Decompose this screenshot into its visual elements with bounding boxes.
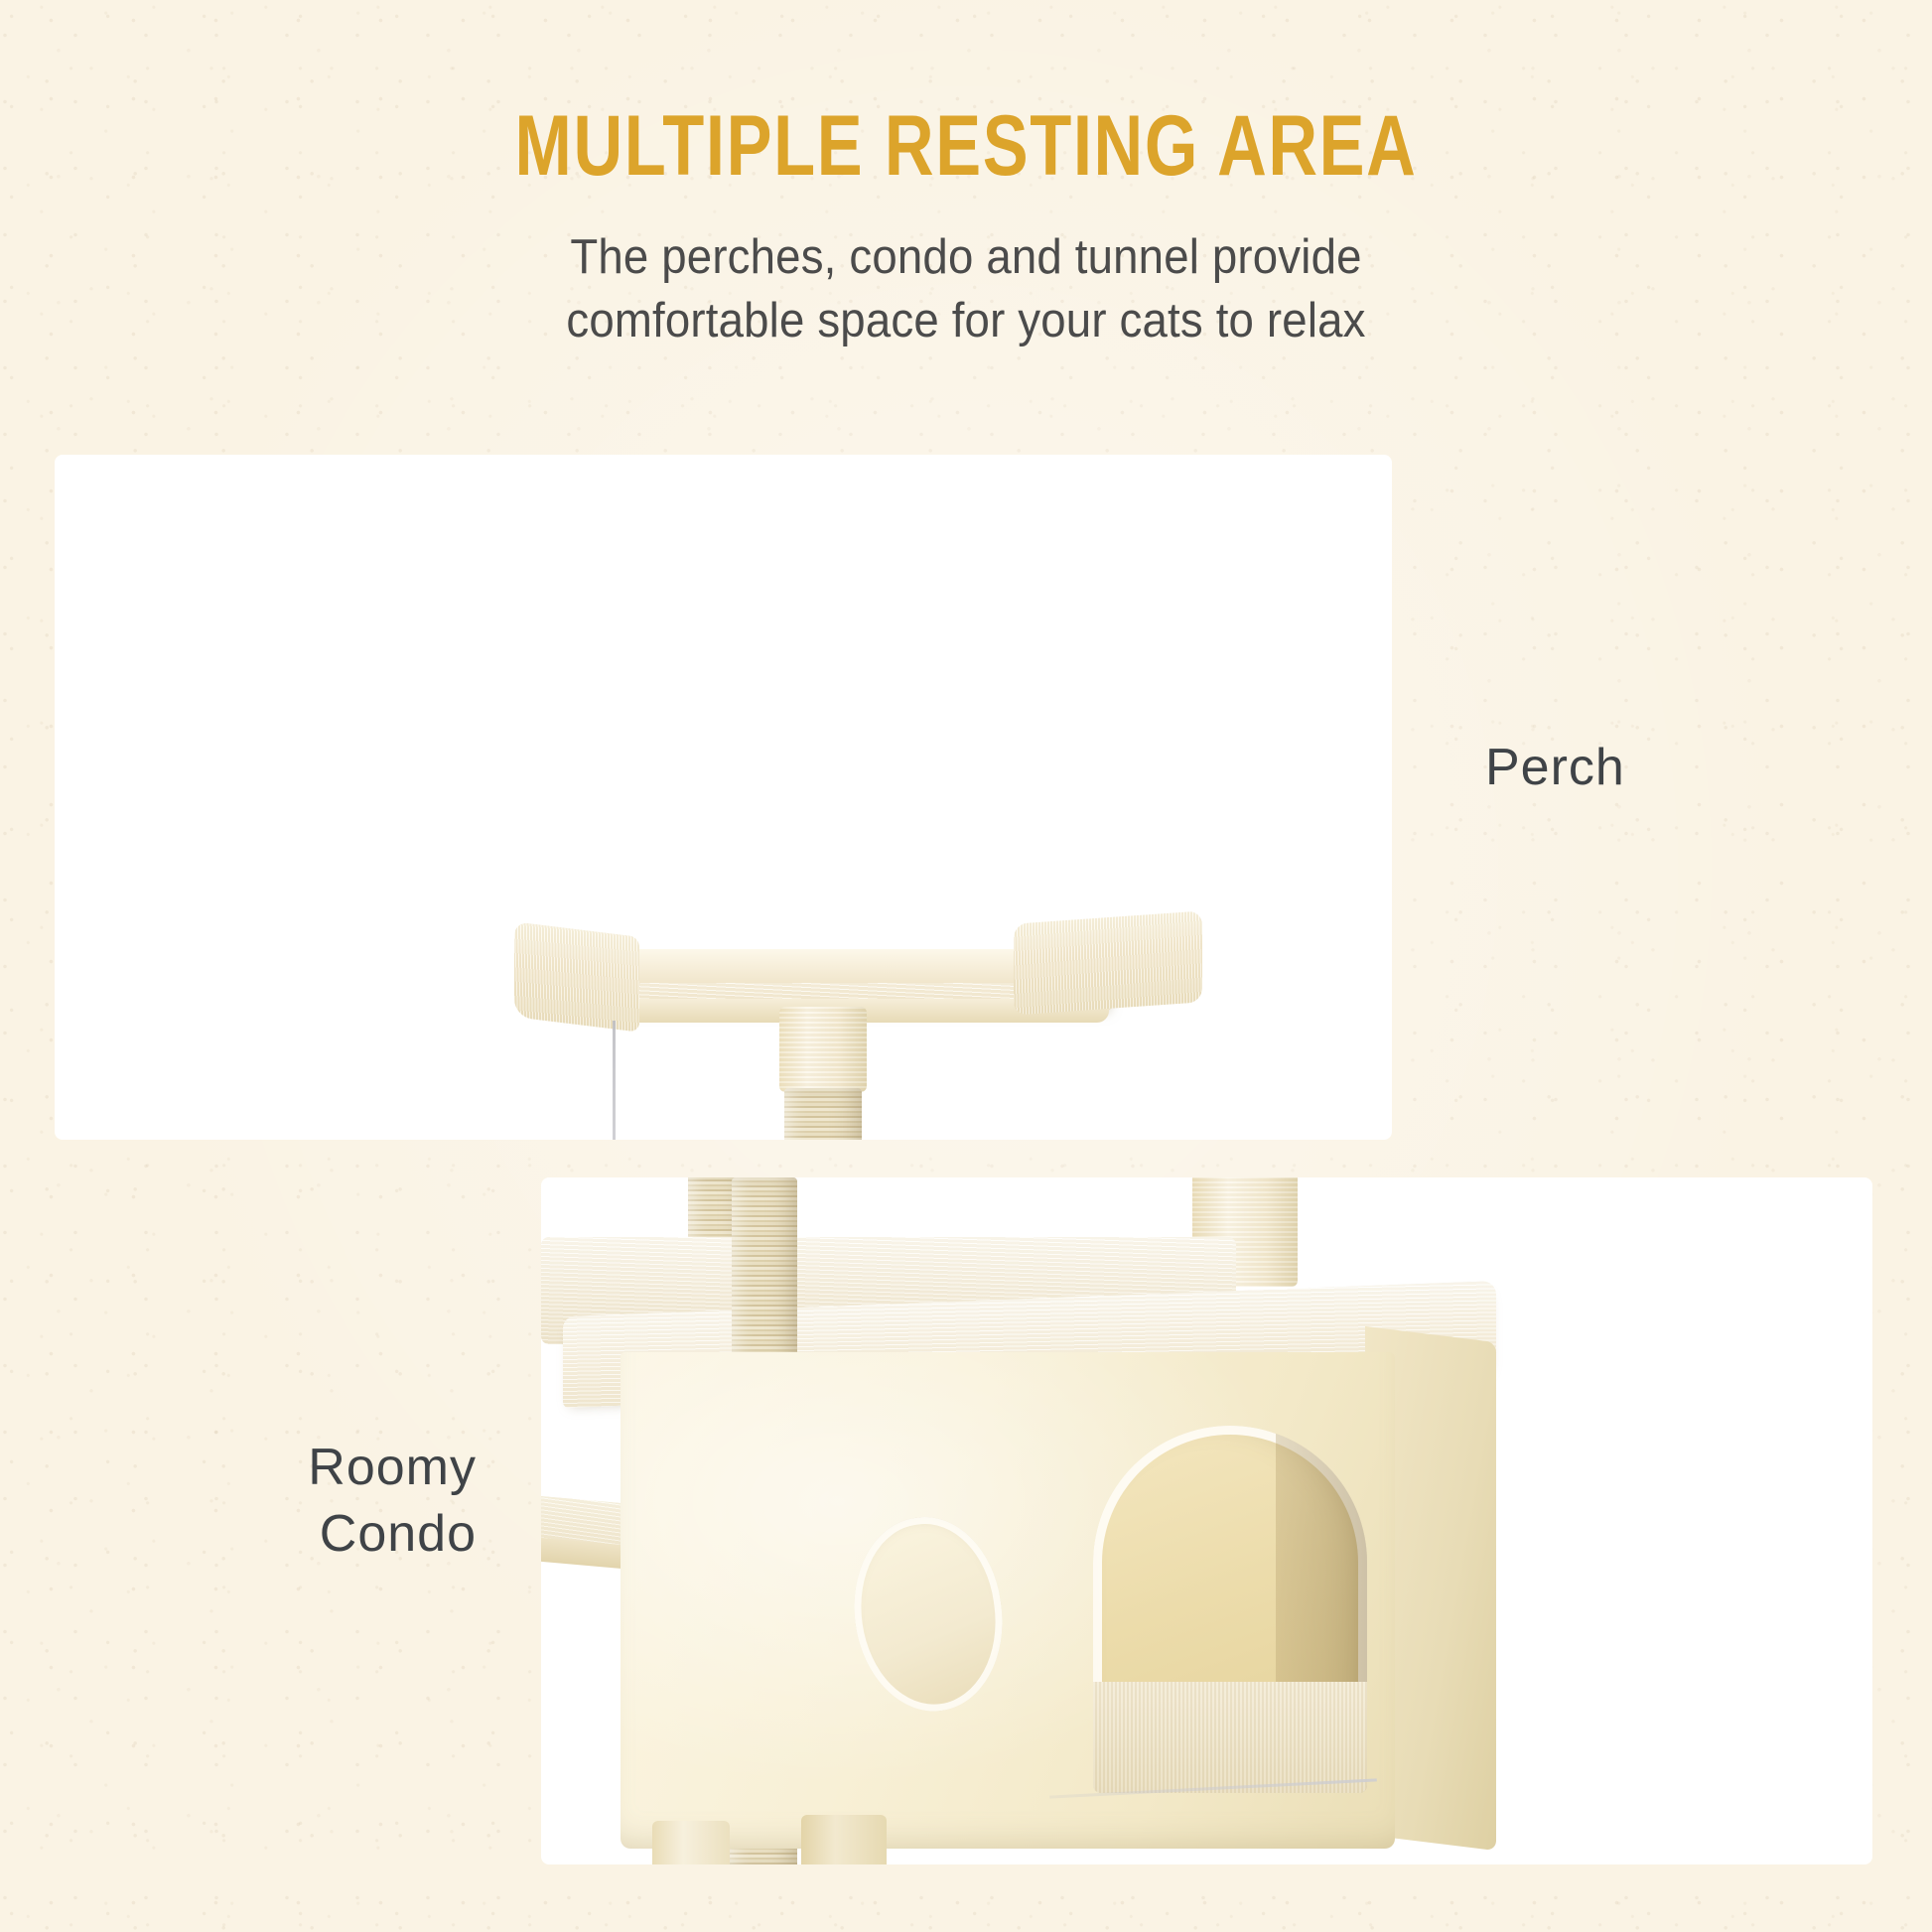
condo-entrance [1093,1426,1367,1793]
toy-string [613,1021,616,1140]
top-perch-back-rail [611,949,1037,983]
condo-center-post-sisal-upper [732,1177,797,1362]
header-block: MULTIPLE RESTING AREA The perches, condo… [0,0,1932,352]
cat-tree-condo-illustration [541,1177,1872,1864]
caption-roomy-condo: Roomy Condo [40,1435,477,1567]
page-title: MULTIPLE RESTING AREA [194,0,1739,189]
condo-leg [801,1815,887,1864]
top-post-plush-collar [779,1007,867,1092]
condo-leg [1321,1813,1425,1864]
top-perch-left-bolster [514,921,639,1032]
photo-panel-condo [541,1177,1872,1864]
cat-tree-perch-illustration [55,455,1392,1140]
top-post-sisal-wrap [784,1088,862,1140]
condo-leg [652,1821,730,1864]
page-subtitle: The perches, condo and tunnel provide co… [68,189,1864,352]
top-perch-right-bolster [1014,910,1202,1015]
condo-interior-floor [1093,1682,1367,1793]
infographic-canvas: MULTIPLE RESTING AREA The perches, condo… [0,0,1932,1932]
caption-perch: Perch [1485,735,1863,801]
photo-panel-perch [55,455,1392,1140]
